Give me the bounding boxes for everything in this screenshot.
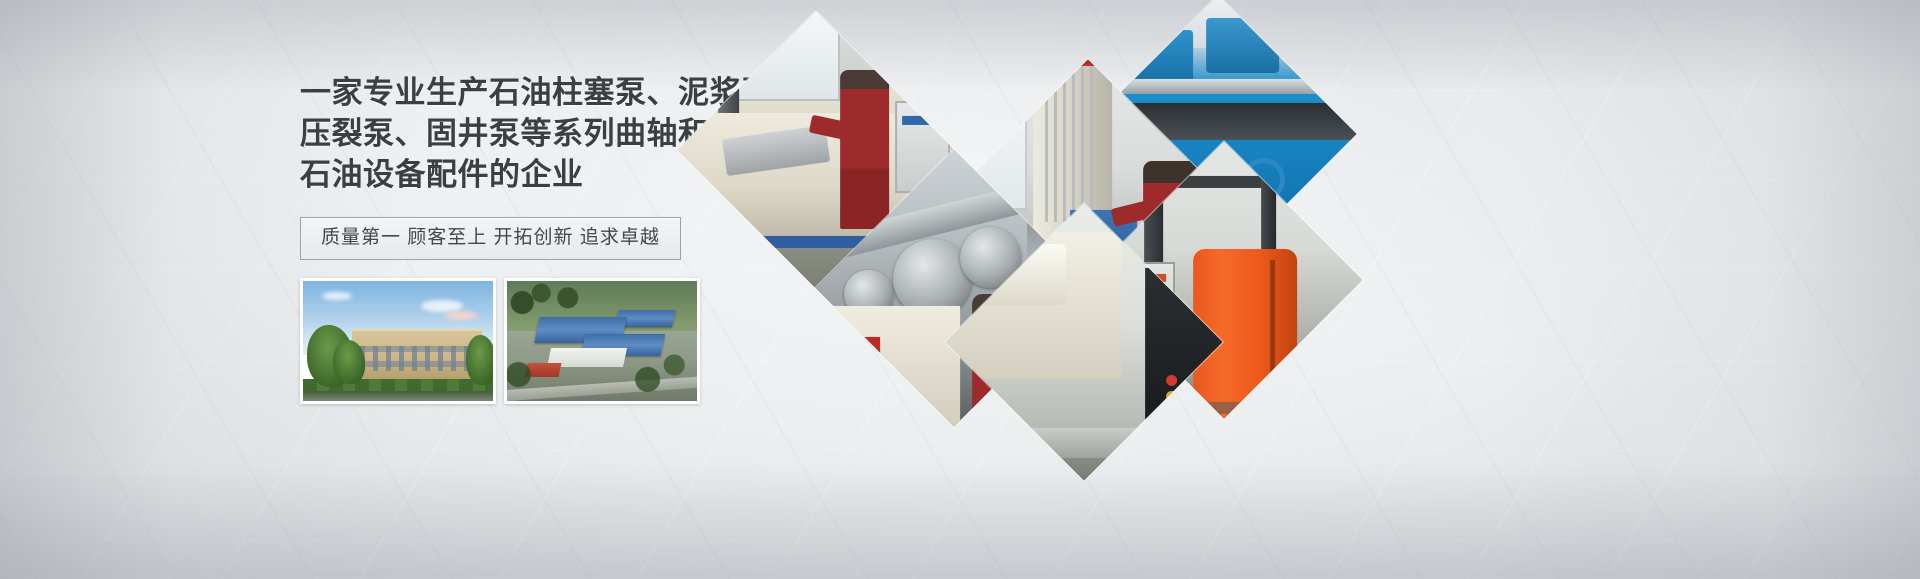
- brand-label: [1070, 59, 1113, 66]
- photo-office-building[interactable]: [300, 278, 496, 404]
- brand-label: [819, 337, 880, 358]
- worker-red-uniform: [840, 71, 889, 230]
- slogan-box: 质量第一 顾客至上 开拓创新 追求卓越: [300, 217, 681, 260]
- hero-banner: 一家专业生产石油柱塞泵、泥浆泵、 压裂泵、固井泵等系列曲轴和其他 石油设备配件的…: [0, 0, 1920, 579]
- machine-body: [815, 306, 960, 426]
- photo-factory-aerial[interactable]: [504, 278, 700, 404]
- photo-factory-aerial-image: [507, 281, 697, 401]
- factory-window: [677, 11, 840, 101]
- banner-content: 一家专业生产石油柱塞泵、泥浆泵、 压裂泵、固井泵等系列曲轴和其他 石油设备配件的…: [300, 72, 720, 404]
- photo-office-building-image: [303, 281, 493, 401]
- tree: [333, 340, 365, 384]
- building-main: [352, 329, 481, 379]
- cloud: [322, 292, 352, 300]
- cloud: [444, 311, 478, 320]
- safety-rail: [677, 248, 773, 260]
- diamond-photo-collage: [690, 22, 1430, 412]
- motor-housing: [1206, 18, 1279, 73]
- headline-line-3: 石油设备配件的企业: [300, 154, 720, 195]
- slogan-text: 质量第一 顾客至上 开拓创新 追求卓越: [321, 227, 660, 249]
- photo-row: [300, 278, 720, 404]
- headline-line-2: 压裂泵、固井泵等系列曲轴和其他: [300, 113, 720, 154]
- banner-headline: 一家专业生产石油柱塞泵、泥浆泵、 压裂泵、固井泵等系列曲轴和其他 石油设备配件的…: [300, 72, 720, 195]
- headline-line-1: 一家专业生产石油柱塞泵、泥浆泵、: [300, 72, 720, 113]
- trees: [507, 281, 697, 401]
- tree: [466, 335, 493, 385]
- guide-rods: [1045, 63, 1100, 222]
